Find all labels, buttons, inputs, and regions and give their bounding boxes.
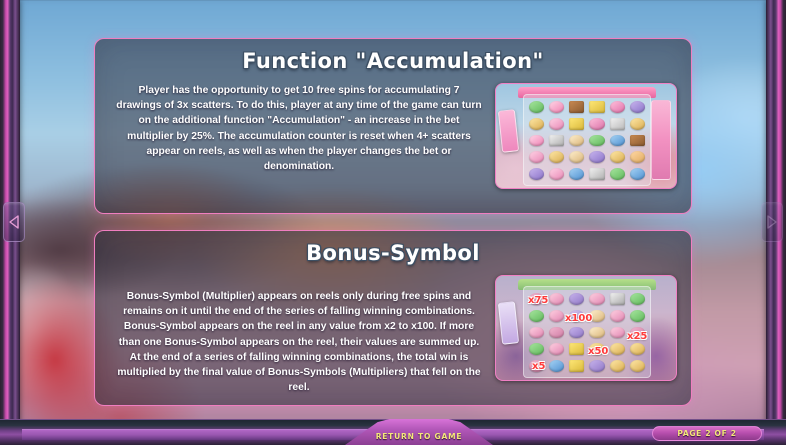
- symbol-caramel: [569, 118, 584, 130]
- symbol-cookie: [630, 360, 645, 372]
- symbol-cookie: [610, 343, 625, 355]
- multiplier-badge: x100: [565, 313, 592, 324]
- symbol-cake: [610, 293, 625, 305]
- symbol-candy: [630, 310, 645, 322]
- symbol-cake: [549, 135, 564, 147]
- panel-accumulation: Function "Accumulation" Player has the o…: [94, 38, 692, 214]
- panel-bonus-symbol-title: Bonus-Symbol: [95, 241, 691, 265]
- symbol-grid: [527, 99, 647, 182]
- symbol-cake: [589, 168, 604, 180]
- symbol-chocolate: [630, 135, 645, 147]
- symbol-cookie: [549, 151, 564, 163]
- symbol-candy: [589, 135, 604, 147]
- symbol-candy: [610, 327, 625, 339]
- multiplier-badge: x5: [532, 361, 545, 372]
- game-logo-tag: [498, 109, 519, 153]
- page-indicator: PAGE 2 OF 2: [652, 426, 762, 441]
- symbol-candy: [529, 343, 544, 355]
- multiplier-badge: x75: [528, 295, 548, 306]
- symbol-cupcake: [589, 118, 604, 130]
- symbol-cupcake: [569, 135, 584, 147]
- multiplier-badge: x50: [588, 346, 608, 357]
- symbol-caramel: [569, 360, 584, 372]
- symbol-candy: [589, 293, 604, 305]
- slot-reels-accumulation-screenshot: [495, 83, 677, 189]
- symbol-candy: [549, 118, 564, 130]
- panel-accumulation-title: Function "Accumulation": [95, 49, 691, 73]
- symbol-candy: [529, 101, 544, 113]
- symbol-donut: [529, 168, 544, 180]
- return-to-game-button[interactable]: RETURN TO GAME: [345, 419, 493, 445]
- symbol-lollipop: [549, 310, 564, 322]
- symbol-candy: [630, 293, 645, 305]
- panel-accumulation-body: Player has the opportunity to get 10 fre…: [95, 73, 691, 189]
- symbol-gumball: [610, 135, 625, 147]
- symbol-donut: [630, 101, 645, 113]
- game-logo-tag: [498, 301, 519, 345]
- return-to-game-label: RETURN TO GAME: [376, 432, 463, 441]
- symbol-lollipop: [549, 327, 564, 339]
- symbol-gumball: [569, 168, 584, 180]
- symbol-cookie: [529, 118, 544, 130]
- slot-reels-bonus-symbol-screenshot: x75 x100 x25 x50 x5: [495, 275, 677, 381]
- symbol-candy: [549, 168, 564, 180]
- symbol-cake: [610, 118, 625, 130]
- symbol-cupcake: [569, 151, 584, 163]
- multiplier-badge: x25: [627, 331, 647, 342]
- symbol-candy: [529, 135, 544, 147]
- symbol-candy: [549, 101, 564, 113]
- symbol-chocolate: [569, 101, 584, 113]
- page-indicator-label: PAGE 2 OF 2: [677, 429, 736, 438]
- symbol-cookie: [610, 151, 625, 163]
- reel-area: [523, 94, 651, 186]
- symbol-candy: [610, 310, 625, 322]
- symbol-caramel: [569, 343, 584, 355]
- game-side-panel: [651, 100, 671, 180]
- symbol-donut: [569, 327, 584, 339]
- symbol-donut: [589, 360, 604, 372]
- triangle-left-icon: [9, 215, 19, 229]
- symbol-candy: [529, 151, 544, 163]
- symbol-cupcake: [589, 327, 604, 339]
- prev-page-button[interactable]: [3, 202, 25, 242]
- symbol-lollipop: [549, 293, 564, 305]
- paytable-screen: Function "Accumulation" Player has the o…: [0, 0, 786, 445]
- symbol-candy: [549, 343, 564, 355]
- symbol-cookie: [630, 118, 645, 130]
- panel-bonus-symbol-body: Bonus-Symbol (Multiplier) appears on ree…: [95, 265, 691, 395]
- symbol-cupcake: [610, 101, 625, 113]
- symbol-donut: [569, 293, 584, 305]
- symbol-candy: [610, 168, 625, 180]
- symbol-caramel: [589, 101, 604, 113]
- panel-accumulation-text: Player has the opportunity to get 10 fre…: [109, 83, 489, 174]
- symbol-cookie: [610, 360, 625, 372]
- triangle-right-icon: [767, 215, 777, 229]
- symbol-candy: [529, 327, 544, 339]
- symbol-gumball: [630, 168, 645, 180]
- panel-bonus-symbol-text: Bonus-Symbol (Multiplier) appears on ree…: [109, 275, 489, 395]
- panel-bonus-symbol: Bonus-Symbol Bonus-Symbol (Multiplier) a…: [94, 230, 692, 406]
- symbol-cookie: [630, 343, 645, 355]
- symbol-candy: [529, 310, 544, 322]
- symbol-gumball: [549, 360, 564, 372]
- symbol-caramel: [630, 151, 645, 163]
- next-page-button[interactable]: [761, 202, 783, 242]
- symbol-donut: [589, 151, 604, 163]
- bottom-bar: RETURN TO GAME PAGE 2 OF 2: [0, 419, 786, 445]
